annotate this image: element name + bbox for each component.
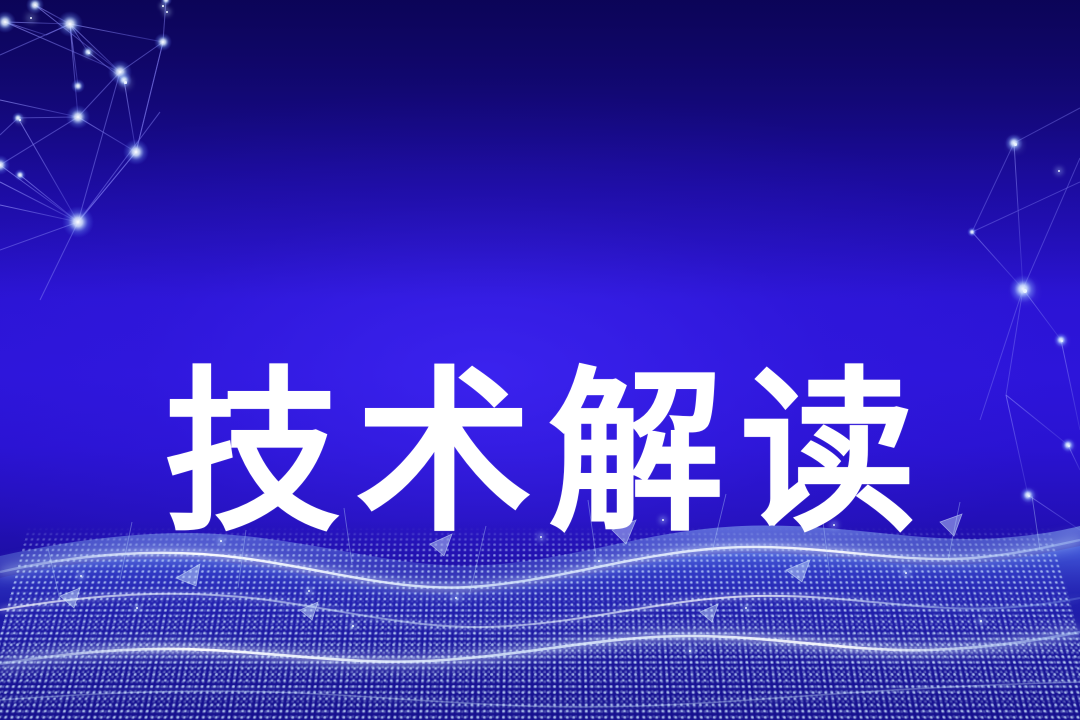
ridge-trough	[0, 682, 1080, 707]
banner-canvas: 技术解读	[0, 0, 1080, 720]
page-title: 技术解读	[0, 366, 1080, 542]
ridge-secondary	[0, 594, 1080, 627]
